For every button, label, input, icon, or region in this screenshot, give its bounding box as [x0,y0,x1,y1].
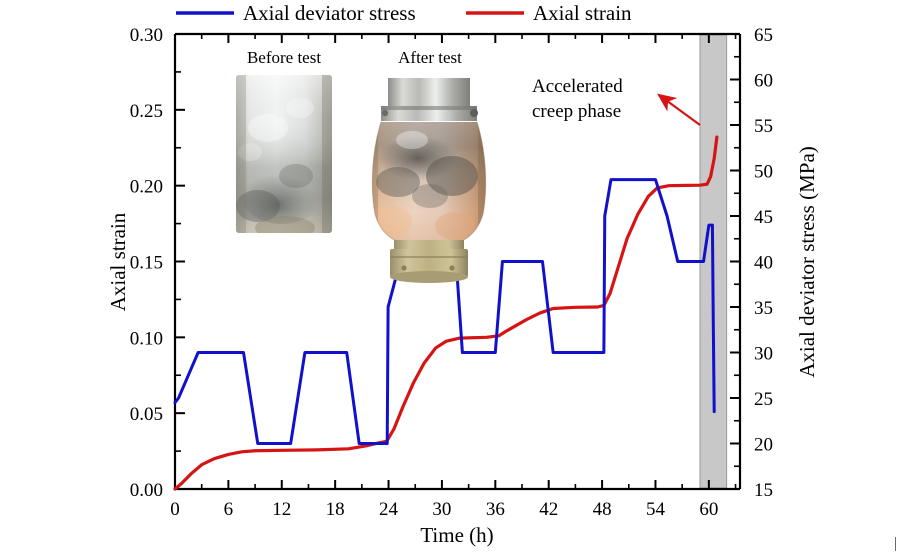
annotation-line-1: Accelerated [532,76,623,97]
after-test-photo: After test [366,48,490,283]
legend-label-strain: Axial strain [533,1,632,25]
y-tick-label: 0.20 [130,177,163,198]
y2-tick-label: 55 [754,116,773,137]
y2-axis-ticks: 1520253035404550556065 [730,25,773,501]
legend-label-stress: Axial deviator stress [243,1,416,25]
y2-tick-label: 35 [754,298,773,319]
y-axis-title: Axial strain [106,212,130,311]
x-tick-label: 36 [486,499,505,520]
before-test-photo: Before test [236,48,332,240]
x-tick-label: 0 [170,499,180,520]
y2-tick-label: 65 [754,25,773,46]
y2-axis-title: Axial deviator stress (MPa) [795,146,819,378]
chart-legend: Axial deviator stress Axial strain [176,1,632,25]
chart-svg: Axial deviator stress Axial strain 06121… [0,0,901,557]
y-tick-label: 0.05 [130,404,163,425]
legend-item-stress: Axial deviator stress [176,1,416,25]
x-tick-label: 60 [699,499,718,520]
after-test-caption: After test [398,48,462,67]
y2-tick-label: 15 [754,480,773,501]
y2-tick-label: 50 [754,162,773,183]
y-tick-label: 0.25 [130,101,163,122]
x-tick-label: 48 [593,499,612,520]
annotation-line-2: creep phase [532,101,621,122]
x-tick-label: 12 [272,499,291,520]
y2-tick-label: 40 [754,253,773,274]
specimen-base-collar [394,240,464,250]
y2-tick-label: 30 [754,344,773,365]
y-tick-label: 0.30 [130,25,163,46]
annotation-arrow [659,95,700,125]
x-tick-label: 18 [326,499,345,520]
x-tick-label: 30 [432,499,451,520]
y-tick-label: 0.00 [130,480,163,501]
y2-tick-label: 45 [754,207,773,228]
accelerated-creep-annotation: Accelerated creep phase [532,76,700,125]
creep-test-figure: Axial deviator stress Axial strain 06121… [0,0,901,557]
y-axis-ticks: 0.000.050.100.150.200.250.30 [130,25,185,501]
x-tick-label: 54 [646,499,666,520]
x-axis-title: Time (h) [420,523,493,547]
y2-tick-label: 20 [754,435,773,456]
y-tick-label: 0.15 [130,253,163,274]
text-cursor-artifact [895,537,896,551]
x-tick-label: 42 [539,499,558,520]
y2-tick-label: 60 [754,71,773,92]
before-test-caption: Before test [247,48,321,67]
y2-tick-label: 25 [754,389,773,410]
x-tick-label: 24 [379,499,399,520]
legend-item-strain: Axial strain [466,1,632,25]
x-tick-label: 6 [224,499,234,520]
y-tick-label: 0.10 [130,328,163,349]
